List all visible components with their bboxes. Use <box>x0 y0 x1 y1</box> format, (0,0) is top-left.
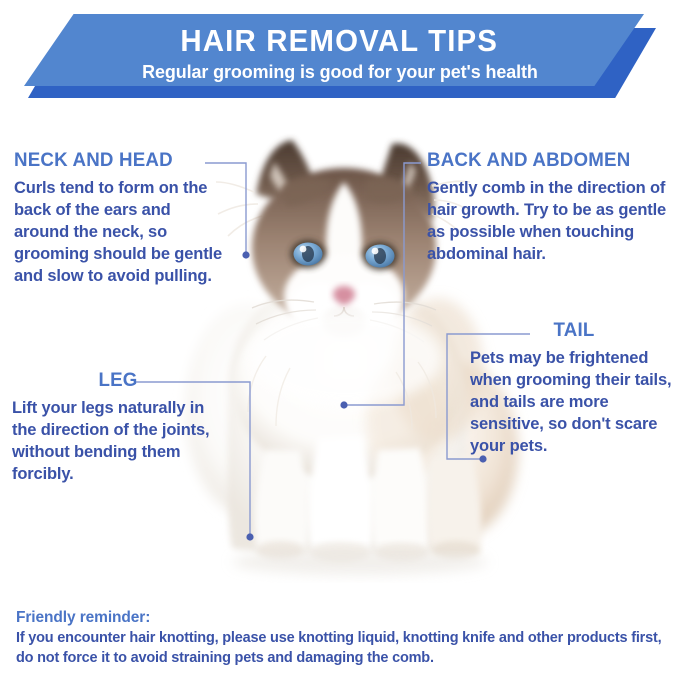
callout-back-and-abdomen: BACK AND ABDOMEN Gently comb in the dire… <box>427 150 679 266</box>
callout-heading-leg: LEG <box>16 370 220 391</box>
callout-body-leg: Lift your legs naturally in the directio… <box>12 398 224 486</box>
friendly-reminder: Friendly reminder: If you encounter hair… <box>16 608 666 669</box>
callout-heading-tail: TAIL <box>474 320 674 341</box>
callout-tail: TAIL Pets may be frightened when groomin… <box>470 320 678 458</box>
callout-neck-and-head: NECK AND HEAD Curls tend to form on the … <box>14 150 224 288</box>
callout-heading-neck: NECK AND HEAD <box>14 150 216 171</box>
header-banner: HAIR REMOVAL TIPS Regular grooming is go… <box>0 0 679 108</box>
callout-body-tail: Pets may be frightened when grooming the… <box>470 348 678 458</box>
footer-title: Friendly reminder: <box>16 608 666 627</box>
callout-body-neck: Curls tend to form on the back of the ea… <box>14 178 224 288</box>
infographic-poster: HAIR REMOVAL TIPS Regular grooming is go… <box>0 0 679 679</box>
callout-leg: LEG Lift your legs naturally in the dire… <box>12 370 224 486</box>
footer-body: If you encounter hair knotting, please u… <box>16 629 666 668</box>
callout-heading-back: BACK AND ABDOMEN <box>427 150 669 171</box>
banner-shape-front <box>24 14 644 86</box>
callout-body-back: Gently comb in the direction of hair gro… <box>427 178 679 266</box>
